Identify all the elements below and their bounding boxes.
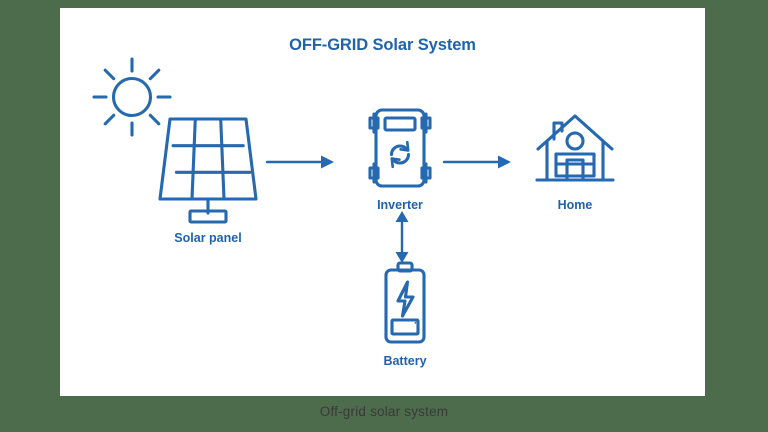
battery-icon [380, 260, 430, 346]
arrow-inverter-battery-bidirectional [392, 211, 412, 263]
house-icon [534, 110, 616, 190]
node-label-battery: Battery [325, 354, 485, 368]
solar-panel-icon [148, 113, 268, 225]
arrow-panel-to-inverter [265, 153, 337, 171]
figure-caption: Off-grid solar system [0, 404, 768, 419]
node-label-solar-panel: Solar panel [128, 231, 288, 245]
diagram-card: OFF-GRID Solar System [60, 8, 705, 396]
inverter-icon [364, 106, 436, 192]
node-label-home: Home [495, 198, 655, 212]
page-title: OFF-GRID Solar System [60, 36, 705, 55]
diagram-canvas: OFF-GRID Solar System [0, 0, 768, 432]
arrow-inverter-to-home [442, 153, 514, 171]
node-label-inverter: Inverter [320, 198, 480, 212]
